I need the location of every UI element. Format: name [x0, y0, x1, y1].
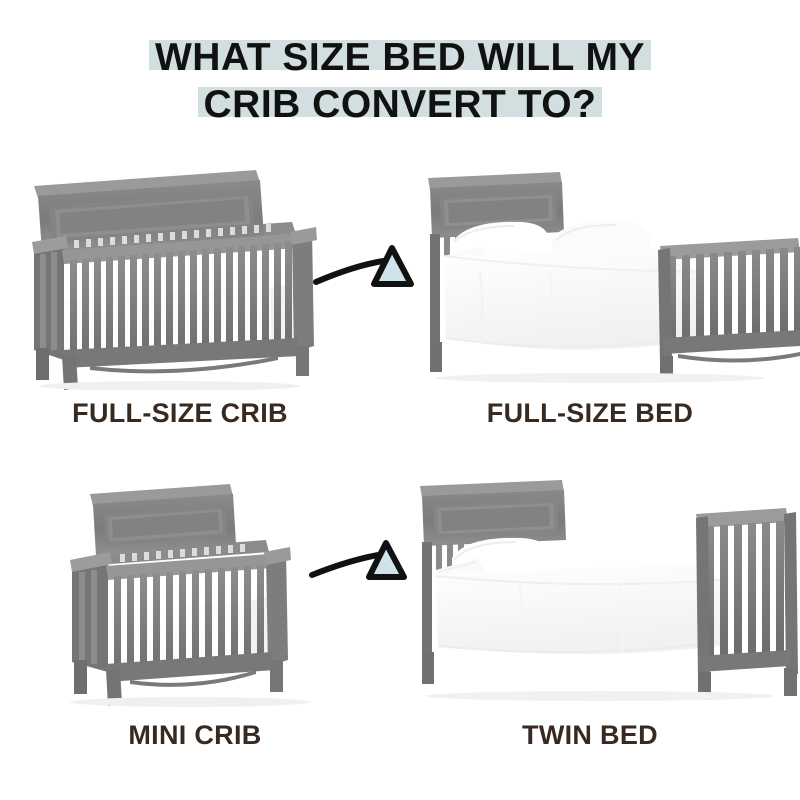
full-size-crib-illustration [20, 160, 340, 390]
item-mini-crib: MINI CRIB [50, 470, 340, 760]
page-title: WHAT SIZE BED WILL MY CRIB CONVERT TO? [0, 34, 800, 128]
mini-crib-illustration [50, 470, 340, 710]
curved-arrow-right-icon [312, 242, 422, 302]
caption-twin-bed: TWIN BED [390, 720, 790, 751]
item-full-size-crib: FULL-SIZE CRIB [20, 160, 340, 430]
page-title-line-2: CRIB CONVERT TO? [0, 81, 800, 128]
caption-full-size-bed: FULL-SIZE BED [395, 398, 785, 429]
item-full-size-bed: FULL-SIZE BED [410, 160, 800, 430]
item-twin-bed: TWIN BED [400, 470, 800, 760]
full-size-bed-illustration [410, 160, 800, 390]
page-title-line-2-text: CRIB CONVERT TO? [198, 81, 603, 128]
page-title-line-1-text: WHAT SIZE BED WILL MY [149, 34, 651, 81]
caption-mini-crib: MINI CRIB [50, 720, 340, 751]
page-title-line-1: WHAT SIZE BED WILL MY [0, 34, 800, 81]
twin-bed-illustration [400, 470, 800, 710]
caption-full-size-crib: FULL-SIZE CRIB [20, 398, 340, 429]
curved-arrow-right-icon [308, 537, 416, 595]
